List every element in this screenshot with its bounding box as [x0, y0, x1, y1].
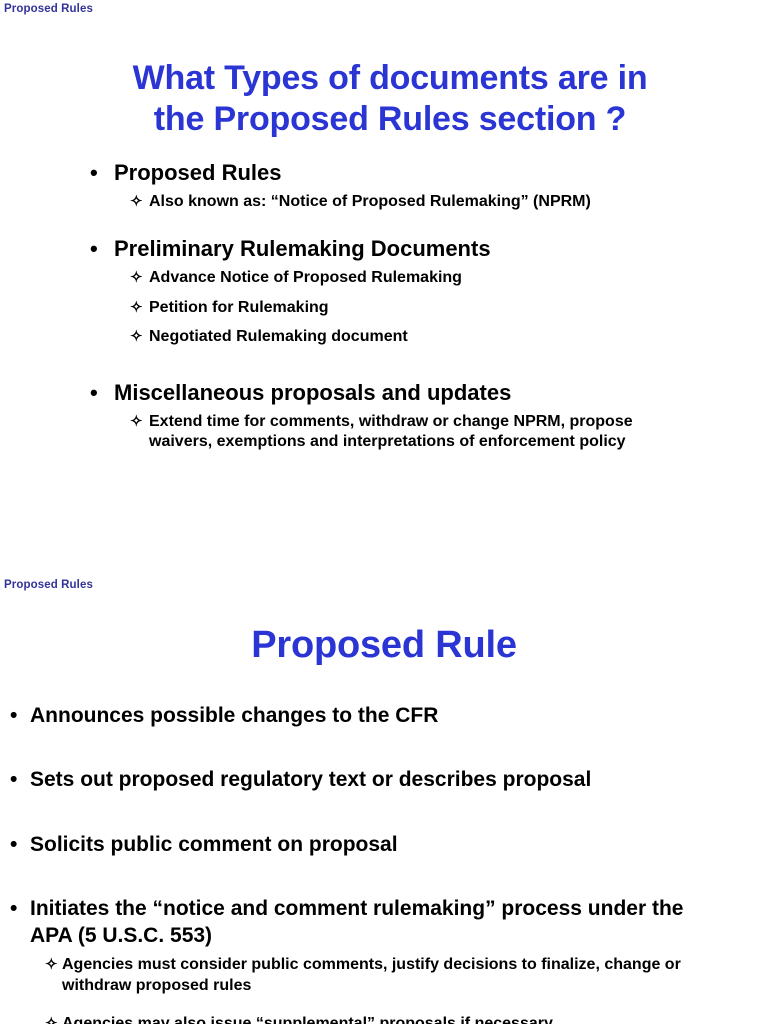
- bullet-dot-icon: •: [90, 160, 98, 186]
- sub-bullet-item: ✧ Petition for Rulemaking: [0, 298, 768, 318]
- diamond-bullet-icon: ✧: [45, 955, 58, 975]
- diamond-bullet-icon: ✧: [45, 1014, 58, 1024]
- slide-1: Proposed Rules What Types of documents a…: [0, 0, 768, 560]
- bullet-dot-icon: •: [10, 767, 17, 793]
- slide-1-title-line-2: the Proposed Rules section ?: [154, 100, 626, 138]
- sub-bullet-item: ✧ Agencies must consider public comments…: [0, 955, 768, 997]
- bullet-label: Proposed Rules: [114, 160, 281, 185]
- bullet-group: • Miscellaneous proposals and updates ✧ …: [0, 380, 768, 453]
- bullet-item: • Miscellaneous proposals and updates: [0, 380, 768, 406]
- slide-1-title: What Types of documents are in the Propo…: [60, 58, 720, 141]
- diamond-bullet-icon: ✧: [130, 298, 143, 318]
- slide-2-body: • Announces possible changes to the CFR …: [0, 703, 768, 1005]
- sub-bullet-label: Extend time for comments, withdraw or ch…: [149, 413, 633, 450]
- bullet-label: Solicits public comment on proposal: [30, 833, 398, 856]
- sub-bullet-label: Agencies may also issue “supplemental” p…: [62, 1015, 553, 1024]
- bullet-group: • Proposed Rules ✧ Also known as: “Notic…: [0, 160, 768, 212]
- bullet-label: Miscellaneous proposals and updates: [114, 380, 511, 405]
- slide-2: Proposed Rules Proposed Rule • Announces…: [0, 570, 768, 1024]
- sub-bullet-item: ✧ Agencies may also issue “supplemental”…: [0, 1014, 768, 1024]
- bullet-item: • Proposed Rules: [0, 160, 768, 186]
- sub-bullet-item: ✧ Extend time for comments, withdraw or …: [0, 412, 768, 453]
- sub-bullet-item: ✧ Negotiated Rulemaking document: [0, 327, 768, 347]
- slide-2-header-label: Proposed Rules: [2, 579, 93, 592]
- sub-bullet-label: Negotiated Rulemaking document: [149, 328, 408, 345]
- bullet-dot-icon: •: [90, 380, 98, 406]
- clipped-sub-bullet-row: ✧ Agencies may also issue “supplemental”…: [0, 1014, 768, 1024]
- sub-bullet-label: Petition for Rulemaking: [149, 299, 329, 316]
- sub-bullet-label: Also known as: “Notice of Proposed Rulem…: [149, 193, 591, 210]
- sub-bullet-item: ✧ Advance Notice of Proposed Rulemaking: [0, 268, 768, 288]
- bullet-label: Initiates the “notice and comment rulema…: [30, 897, 683, 946]
- bullet-item: • Sets out proposed regulatory text or d…: [0, 767, 768, 793]
- sub-bullet-label: Agencies must consider public comments, …: [62, 956, 681, 994]
- slide-1-body: • Proposed Rules ✧ Also known as: “Notic…: [0, 160, 768, 462]
- document-page: Proposed Rules What Types of documents a…: [0, 0, 768, 1024]
- diamond-bullet-icon: ✧: [130, 192, 143, 212]
- sub-bullet-item: ✧ Also known as: “Notice of Proposed Rul…: [0, 192, 768, 212]
- bullet-dot-icon: •: [10, 832, 17, 858]
- slide-1-title-line-1: What Types of documents are in: [133, 59, 648, 97]
- bullet-dot-icon: •: [90, 236, 98, 262]
- bullet-item: • Preliminary Rulemaking Documents: [0, 236, 768, 262]
- sub-bullet-label: Advance Notice of Proposed Rulemaking: [149, 269, 462, 286]
- bullet-item: • Initiates the “notice and comment rule…: [0, 896, 768, 949]
- bullet-dot-icon: •: [10, 896, 17, 922]
- bullet-dot-icon: •: [10, 703, 17, 729]
- bullet-group: • Preliminary Rulemaking Documents ✧ Adv…: [0, 236, 768, 347]
- diamond-bullet-icon: ✧: [130, 327, 143, 347]
- diamond-bullet-icon: ✧: [130, 268, 143, 288]
- bullet-label: Sets out proposed regulatory text or des…: [30, 768, 591, 791]
- bullet-item: • Announces possible changes to the CFR: [0, 703, 768, 729]
- bullet-label: Preliminary Rulemaking Documents: [114, 236, 491, 261]
- bullet-item: • Solicits public comment on proposal: [0, 832, 768, 858]
- diamond-bullet-icon: ✧: [130, 412, 143, 432]
- slide-1-header-label: Proposed Rules: [2, 3, 93, 16]
- slide-2-title: Proposed Rule: [0, 622, 768, 668]
- bullet-label: Announces possible changes to the CFR: [30, 704, 438, 727]
